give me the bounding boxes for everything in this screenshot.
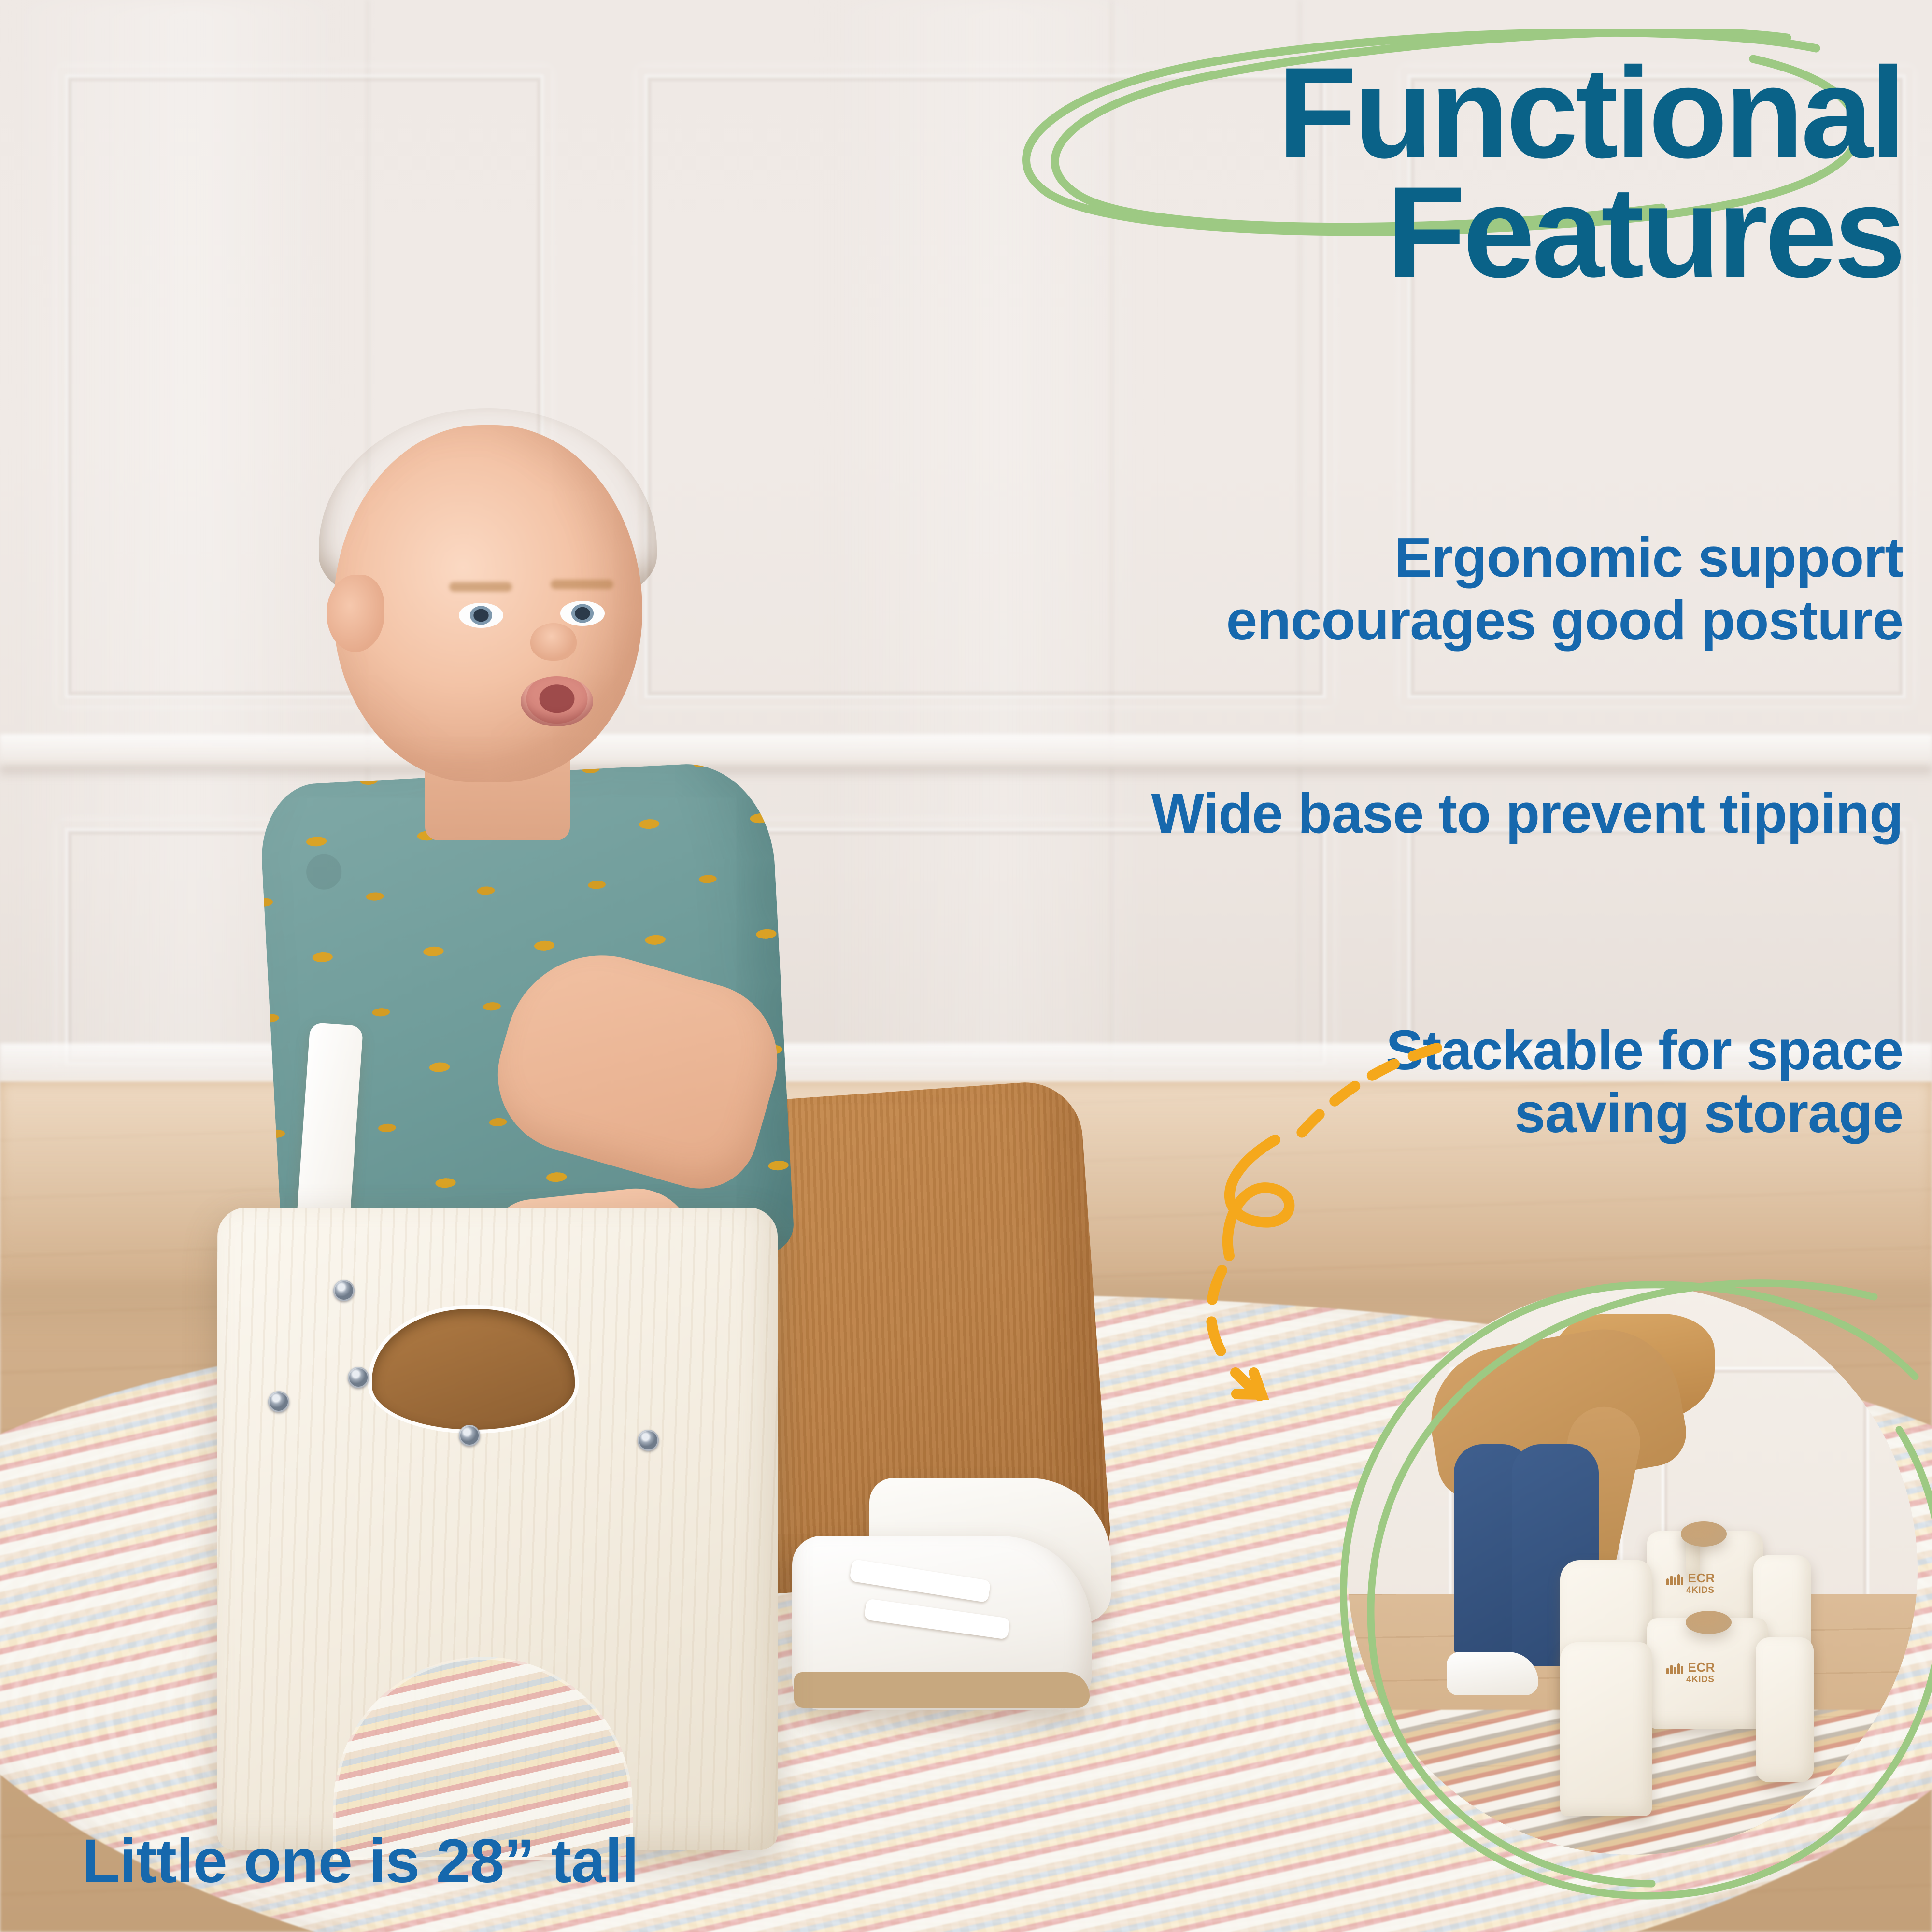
shoe-sole <box>794 1672 1090 1708</box>
logo-line-2: 4KIDS <box>1686 1676 1715 1684</box>
stool-screw <box>638 1430 659 1451</box>
feature-callout-stackable: Stackable for space saving storage <box>1207 1019 1903 1145</box>
inset-person-shoe <box>1447 1652 1538 1695</box>
logo-line-2: 4KIDS <box>1686 1586 1715 1595</box>
inset-stool-lower-front <box>1560 1642 1652 1816</box>
logo-line-1: ECR <box>1688 1660 1715 1675</box>
inset-stool-logo-upper: ECR 4KIDS <box>1666 1572 1715 1595</box>
toddler-nose <box>530 623 577 661</box>
stool-screw <box>268 1391 289 1412</box>
stackable-inset-photo: ECR 4KIDS ECR 4KIDS <box>1348 1285 1932 1913</box>
infographic-canvas: Functional Features Ergonomic support en… <box>0 0 1932 1932</box>
toddler-eye <box>459 603 503 628</box>
stool-screw <box>459 1425 480 1446</box>
toddler-eyebrow <box>449 582 512 592</box>
toddler-ear <box>327 575 384 652</box>
title-line-1: Functional <box>995 53 1903 172</box>
stool-screw <box>333 1280 355 1301</box>
ecr-bars-icon <box>1666 1574 1685 1586</box>
feature-callout-ergonomic: Ergonomic support encourages good postur… <box>1150 526 1903 652</box>
inset-stool-upper-handle-cutout <box>1681 1521 1727 1547</box>
toddler-mouth <box>521 676 593 726</box>
chair-rail <box>0 734 1932 768</box>
inset-photo-circle: ECR 4KIDS ECR 4KIDS <box>1348 1285 1918 1855</box>
toddler-eyebrow <box>551 580 613 589</box>
ecr-bars-icon <box>1666 1663 1685 1676</box>
inset-stool-lower-handle-cutout <box>1686 1611 1732 1634</box>
chair-rail-shadow <box>0 766 1932 779</box>
inset-stool-logo-lower: ECR 4KIDS <box>1666 1662 1715 1684</box>
feature-callout-wide-base: Wide base to prevent tipping <box>1150 782 1903 845</box>
inset-stool-lower-side <box>1756 1637 1814 1782</box>
title-line-2: Features <box>995 172 1903 292</box>
toddler-eye <box>560 601 605 626</box>
page-title: Functional Features <box>995 53 1903 291</box>
height-caption: Little one is 28” tall <box>82 1826 639 1897</box>
logo-line-1: ECR <box>1688 1571 1715 1585</box>
stool-screw <box>348 1367 369 1388</box>
